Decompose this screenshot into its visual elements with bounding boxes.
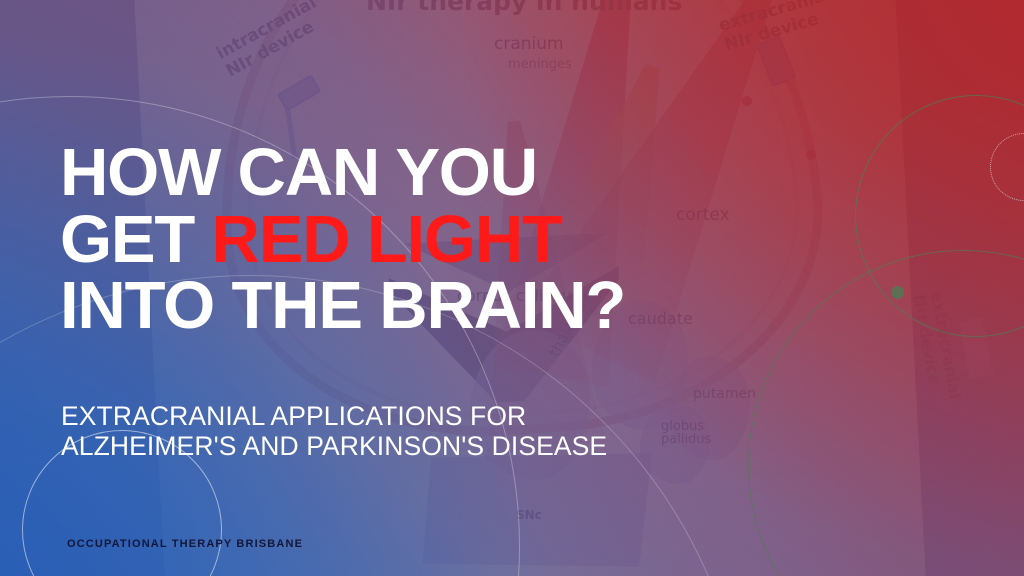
- headline-line-3: INTO THE BRAIN?: [60, 273, 760, 340]
- headline-line-2-prefix: GET: [60, 202, 212, 277]
- headline-accent-red-light: RED LIGHT: [212, 202, 562, 277]
- headline-line-2: GET RED LIGHT: [60, 207, 760, 274]
- subhead-line-1: EXTRACRANIAL APPLICATIONS FOR: [61, 402, 781, 432]
- subhead-line-2: ALZHEIMER'S AND PARKINSON'S DISEASE: [61, 432, 781, 462]
- slide-subheadline: EXTRACRANIAL APPLICATIONS FOR ALZHEIMER'…: [61, 402, 781, 462]
- slide-footer-brand: OCCUPATIONAL THERAPY BRISBANE: [67, 538, 303, 550]
- slide-content: HOW CAN YOU GET RED LIGHT INTO THE BRAIN…: [0, 0, 1024, 576]
- presentation-slide: NIr therapy in humans intracranial NIr d…: [0, 0, 1024, 576]
- slide-headline: HOW CAN YOU GET RED LIGHT INTO THE BRAIN…: [60, 140, 760, 340]
- headline-line-1: HOW CAN YOU: [60, 140, 760, 207]
